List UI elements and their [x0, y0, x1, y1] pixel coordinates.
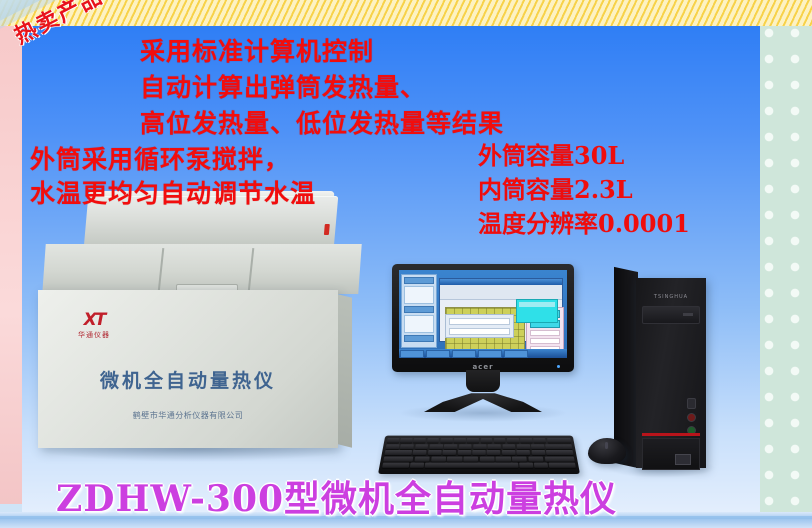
taskbar-item: [504, 350, 528, 358]
right-polka-dot-border: [760, 24, 812, 528]
key: [472, 450, 485, 455]
key: [496, 456, 511, 461]
mic-jack-icon: [687, 413, 696, 422]
monitor-bezel: acer: [392, 264, 574, 372]
key: [531, 450, 545, 455]
instrument-body: XT 华通仪器 微机全自动量热仪 鹤壁市华通分析仪器有限公司: [38, 290, 338, 448]
key: [517, 444, 531, 449]
key: [480, 438, 492, 443]
spacebar-key: [425, 463, 518, 468]
feature-line-3: 高位发热量、低位发热量等结果: [140, 104, 504, 140]
key: [473, 444, 486, 449]
key: [410, 463, 424, 468]
sidebar-panel-2: [404, 315, 434, 333]
top-stripe-border: [0, 0, 812, 26]
key: [414, 438, 426, 443]
key: [429, 444, 443, 449]
key: [494, 438, 506, 443]
key: [502, 450, 516, 455]
key: [382, 463, 409, 468]
key: [545, 444, 572, 449]
sidebar-header-3: [404, 335, 434, 342]
key: [431, 456, 446, 461]
feature-line-4: 外筒采用循环泵搅拌，: [30, 140, 290, 176]
keyboard-row-home: [383, 456, 574, 461]
key: [488, 444, 501, 449]
key: [443, 450, 457, 455]
key: [463, 456, 478, 461]
monitor-power-led-icon: [557, 365, 560, 368]
keyboard-row-top: [385, 450, 574, 455]
key: [428, 450, 442, 455]
feature-line-2: 自动计算出弹筒发热量、: [140, 68, 426, 104]
left-pink-border: [0, 24, 22, 504]
sidebar-header: [404, 277, 434, 284]
key: [454, 438, 466, 443]
app-sidebar: [401, 274, 437, 348]
key: [447, 456, 462, 461]
key: [387, 438, 400, 443]
instrument-name-label: 微机全自动量热仪: [38, 366, 338, 393]
power-indicator-icon: [324, 224, 330, 235]
sidebar-panel-1: [404, 286, 434, 304]
keyboard-row-number: [386, 444, 573, 449]
key: [444, 444, 457, 449]
key: [487, 450, 501, 455]
key: [547, 438, 572, 443]
feature-line-5: 水温更均匀自动调节水温: [30, 174, 316, 210]
feature-line-1: 采用标准计算机控制: [140, 32, 374, 68]
key: [414, 456, 429, 461]
logo-mark-icon: XT: [78, 312, 110, 329]
calorimeter-instrument: XT 华通仪器 微机全自动量热仪 鹤壁市华通分析仪器有限公司: [28, 196, 358, 456]
keyboard-row-function: [387, 438, 571, 443]
key: [534, 463, 548, 468]
instrument-company-label: 鹤壁市华通分析仪器有限公司: [38, 410, 338, 421]
tower-lower-bay: [642, 438, 700, 470]
product-title: ZDHW-300型微机全自动量热仪: [56, 470, 617, 522]
key: [415, 444, 429, 449]
key: [386, 444, 400, 449]
key: [467, 438, 479, 443]
key: [507, 438, 519, 443]
taskbar-item: [478, 350, 502, 358]
computer-mouse: [588, 438, 626, 464]
computer-monitor: acer: [392, 264, 574, 414]
key: [383, 456, 413, 461]
calorimeter-software-window: [439, 278, 563, 342]
taskbar-item: [426, 350, 450, 358]
tower-accent-stripe: [642, 433, 700, 436]
key: [400, 438, 413, 443]
computer-keyboard: [378, 436, 580, 474]
key: [385, 450, 413, 455]
log-line: [519, 302, 555, 307]
key: [457, 450, 471, 455]
tower-front-panel: TSINGHUA: [636, 278, 706, 468]
taskbar-item: [400, 350, 424, 358]
taskbar-item: [452, 350, 476, 358]
tower-brand-label: TSINGHUA: [636, 294, 706, 300]
tower-side-panel: [614, 267, 638, 468]
key: [440, 438, 452, 443]
footer-field-1: [449, 318, 510, 325]
key: [427, 438, 439, 443]
spec-inner-volume: 内筒容量2.3L: [478, 170, 633, 205]
key: [480, 456, 495, 461]
key: [533, 438, 545, 443]
key: [519, 463, 533, 468]
key: [544, 456, 574, 461]
key: [531, 444, 545, 449]
desktop-background: [399, 270, 567, 358]
keyboard-row-space: [382, 463, 576, 468]
key: [413, 450, 427, 455]
monitor-screen: [399, 270, 567, 358]
key: [528, 456, 543, 461]
key: [520, 438, 532, 443]
window-toolbar: [440, 285, 562, 300]
computer-tower: TSINGHUA: [614, 272, 706, 470]
spec-temperature-resolution: 温度分辨率0.0001: [478, 204, 690, 239]
windows-taskbar: [399, 349, 567, 358]
product-advertisement-image: 热卖产品 采用标准计算机控制 自动计算出弹筒发热量、 高位发热量、低位发热量等结…: [0, 0, 812, 528]
result-row-1: [530, 330, 560, 336]
sidebar-header-2: [404, 306, 434, 313]
power-button-icon: [687, 398, 696, 409]
monitor-neck: [466, 370, 500, 392]
spec-outer-volume: 外筒容量30L: [478, 136, 624, 171]
key: [502, 444, 515, 449]
logo-subtitle: 华通仪器: [78, 330, 110, 340]
window-footer-form: [445, 314, 514, 338]
footer-field-2: [449, 328, 510, 335]
results-log-pane: [516, 299, 558, 323]
result-row-2: [530, 338, 560, 344]
key: [549, 463, 576, 468]
optical-drive-icon: [642, 306, 700, 324]
key: [546, 450, 574, 455]
cpu-badge-icon: [675, 454, 691, 465]
key: [459, 444, 472, 449]
key: [512, 456, 527, 461]
key: [517, 450, 531, 455]
key: [400, 444, 414, 449]
manufacturer-logo: XT 华通仪器: [78, 312, 110, 340]
